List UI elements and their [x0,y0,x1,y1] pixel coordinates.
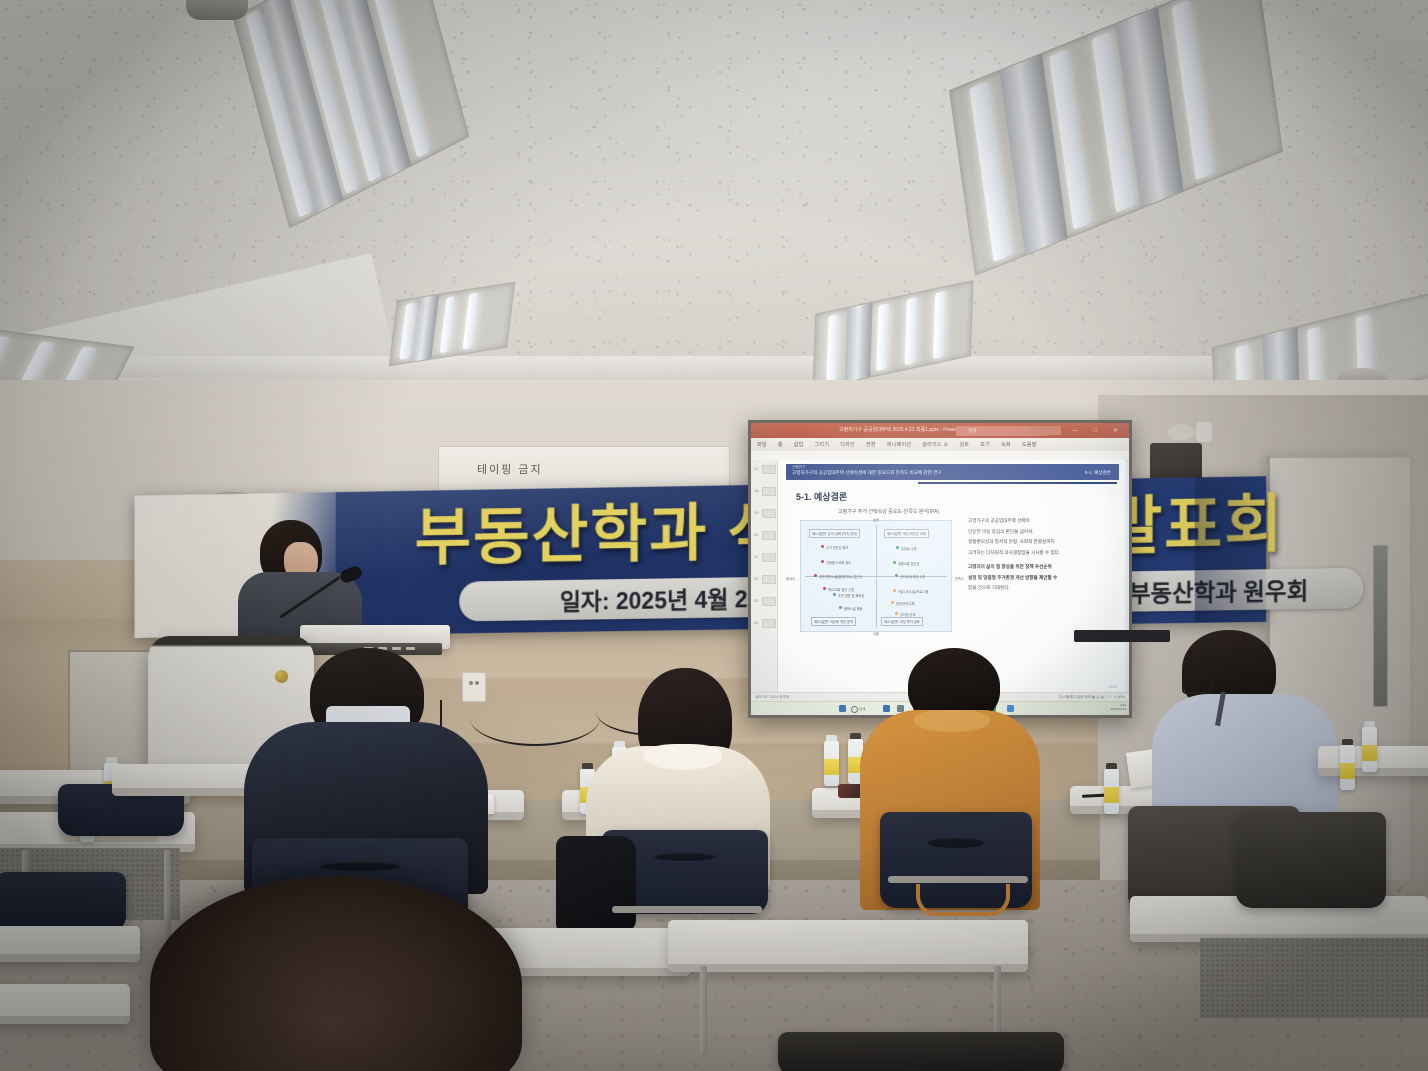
slide-conclusion-text: 고령가구의 공공임대주택 선택이 단순한 비용 중심의 판단을 넘어서, 생활편… [968,518,1117,596]
slide-thumb-number: 24 [754,620,758,625]
desk-left-front [0,926,140,962]
conclusion-line-3: 생활편의성과 정서적 안정, 사회적 연결성까지 [968,539,1117,544]
matrix-label-top: 높음 [873,517,879,522]
bottle-cap [1106,763,1117,769]
microphone-head-icon [338,564,363,584]
ribbon-tab[interactable]: 전환 [866,442,876,448]
attendee2-collar [644,744,722,770]
slide-header-tag: 5-1. 예상결론 [1085,470,1111,476]
slide-thumb-number: 20 [754,532,758,537]
quadrant-2-dot-2 [893,561,896,564]
ceiling [0,0,1428,430]
taskbar-search-icon[interactable] [851,706,858,713]
bottle-label [824,759,839,775]
slide-number: 22/24 [1109,685,1118,689]
chair-back [778,1032,1064,1071]
quadrant-1-item-4: 학교/의료 접근 근접 [828,587,854,592]
quadrant-2-item-1: 임대료 수준 [901,546,917,551]
ribbon-tab[interactable]: 홈 [778,442,783,448]
quadrant-2-item-2: 대중교통 접근성 [898,561,919,566]
powerpoint-document-title: 고령자가구 공공임대주택 2025.4.22 최종1.pptx - PowerP… [839,426,969,433]
chair-right-front[interactable] [1236,812,1386,908]
bottle-label [1362,745,1377,761]
microphone-boom [279,576,340,618]
quadrant-2-label: 제2사분면: 개선 최우선 과제 [884,529,929,538]
quadrant-1-dot-1 [821,545,824,548]
quadrant-2-dot-3 [895,574,898,577]
slide-thumbnail[interactable] [762,597,776,606]
slide-thumb-number: 19 [754,510,758,515]
bottle-cap [106,757,117,763]
chair-back [1236,812,1386,908]
quadrant-1-dot-4 [823,587,826,590]
powerpoint-titlebar: 고령자가구 공공임대주택 2025.4.22 최종1.pptx - PowerP… [751,423,1129,438]
matrix-label-left: 중요도 [786,576,795,581]
bag-on-chair [556,836,636,932]
ribbon-tab[interactable]: 파일 [757,442,767,448]
quadrant-1-dot-3 [814,574,817,577]
desk-modesty-panel-right [1200,938,1428,1018]
quadrant-3-dot-2 [839,606,842,609]
slide-thumb-number: 17 [754,466,758,471]
attendee4-glasses-icon [1182,678,1212,694]
clock-date: 2025-04-22 [1111,708,1126,712]
slide-thumbnail[interactable] [762,509,776,518]
sensor-icon [1196,422,1212,442]
desk-edge [0,954,140,962]
quadrant-2-item-3: 관리비/공과금 수준 [900,574,925,579]
ribbon-tab[interactable]: 검토 [959,442,969,448]
conclusion-line-4: 고려하는 다차원적 의사결정임을 시사할 수 있다. [968,550,1117,555]
bottle-cap [1342,739,1353,745]
slide-header-title: 고령자가구의 공공임대주택 선택속성에 대한 중요도와 만족도 비교에 관한 연… [792,470,942,476]
quadrant-4-label: 제4사분면: 과잉 투자 검토 [881,617,923,626]
quadrant-3-item-1: 주변 경관 및 쾌적성 [838,593,864,598]
chair-left-2[interactable] [0,872,126,932]
slide-header-bar: 선행연구 고령자가구의 공공임대주택 선택속성에 대한 중요도와 만족도 비교에… [786,464,1119,480]
quadrant-1-item-1: 주거 안전성 확보 [826,545,848,550]
desk-front-left [0,984,130,1024]
slide-thumbnail[interactable] [762,619,776,628]
quadrant-3-item-2: 문화시설 확충 [844,606,862,611]
slide-thumbnail-rail[interactable]: 1718192021222324 [751,460,778,693]
wall-notice-text: 테이핑 금지 [477,461,543,477]
slide-thumbnail[interactable] [762,487,776,496]
slide-thumbnail[interactable] [762,465,776,474]
slide-rule-line [918,482,1117,484]
slide-thumbnail[interactable] [762,531,776,540]
quadrant-3-dot-1 [833,593,836,596]
desk-edge [668,964,1028,972]
ipa-quadrant-matrix: 높음 낮음 중요도 만족도 제1사분면: 유지·강화 (지속 관리) 주거 안전… [800,520,952,632]
quadrant-4-dot-3 [895,612,898,615]
taskbar-start-icon[interactable] [839,705,846,712]
smoke-detector-icon [186,0,248,20]
conclusion-line-1: 고령가구의 공공임대주택 선택이 [968,518,1117,523]
recommendation-line-1: 고령자의 삶의 질 향상을 위한 정책 우선순위 [968,564,1117,569]
water-bottle-7 [1104,768,1119,814]
matrix-label-right: 만족도 [955,576,964,581]
cable-run-1 [470,690,600,746]
quadrant-4-dot-1 [893,589,896,592]
chair-frame-bar [888,876,1028,883]
chair-frame-bar [612,906,762,913]
status-right-text: 디스플레이 설정 메모 ▦ ▤ ▥ ⛶ － ＋ 80% [1059,695,1125,700]
ribbon-tab[interactable]: 애니메이션 [887,442,912,448]
chair-front-1[interactable] [778,1032,1064,1071]
door-window [1373,545,1388,707]
quadrant-4-dot-2 [891,601,894,604]
slide-thumb-number: 18 [754,488,758,493]
slide-subtitle: 고령가구 주거 선택속성 중요도-만족도 분석(IPA) [838,508,939,515]
bottle-cap [826,735,837,741]
conclusion-line-2: 단순한 비용 중심의 판단을 넘어서, [968,529,1117,534]
quadrant-4-item-2: 운영/관리주체 [896,601,914,606]
desk-front-center-right [668,920,1028,972]
quadrant-1-label: 제1사분면: 유지·강화 (지속 관리) [809,529,860,538]
security-camera-icon [1168,424,1194,440]
chair-back [0,872,126,932]
desk-edge [0,1016,130,1024]
slide-title: 5-1. 예상결론 [796,490,847,503]
ribbon-tabs[interactable]: 파일홈삽입그리기디자인전환애니메이션슬라이드 쇼검토보기녹화도움말 [757,441,1048,448]
chair-handle-slot [927,837,985,848]
quadrant-1-item-2: 건축물 노후화 정도 [826,560,851,565]
ribbon-tab[interactable]: 그리기 [815,442,830,448]
bottle-label [1104,787,1119,803]
ribbon-tab[interactable]: 삽입 [794,442,804,448]
desk-leg [700,966,707,1052]
ribbon-tab[interactable]: 보기 [980,442,990,448]
chair-handle-slot [319,861,401,871]
slide-thumb-number: 23 [754,598,758,603]
quadrant-3-label: 제3사분면: 저순위 개선 영역 [811,617,856,626]
quadrant-4-item-1: 커뮤니티시설/프로그램 [898,589,928,594]
quadrant-1-item-3: 주변 편의시설(병원/마트) 접근성 [819,574,862,579]
bottle-cap [1364,721,1375,727]
ribbon-tab[interactable]: 슬라이드 쇼 [922,442,948,448]
ribbon-tab[interactable]: 녹화 [1001,442,1011,448]
water-bottle-8 [1362,726,1377,772]
recommendation-line-2: 설정 및 맞춤형 주거환경 개선 방향을 제안할 수 [968,575,1117,580]
slide-thumb-number: 21 [754,554,758,559]
powerpoint-search-placeholder: 검색 [968,428,976,434]
microphone [280,560,364,630]
taskbar-clock[interactable]: 4:44 2025-04-22 [1111,704,1126,712]
lecture-room-photo: 테이핑 금지 평 택 대 학 교 1912 PYEONGTAEK UNIVERS… [0,0,1428,1071]
slide-thumbnail[interactable] [762,575,776,584]
quadrant-4-item-3: 주차장 규모 [900,612,916,617]
recommendation-line-3: 있을 것으로 기대된다. [968,585,1117,590]
quadrant-2-dot-1 [896,546,899,549]
bottle-label [1340,763,1355,779]
ribbon-tab[interactable]: 도움말 [1022,442,1037,448]
desk-leg [164,850,171,946]
ribbon-tab[interactable]: 디자인 [840,442,855,448]
matrix-label-bottom: 낮음 [873,631,879,636]
powerpoint-ribbon[interactable]: 파일홈삽입그리기디자인전환애니메이션슬라이드 쇼검토보기녹화도움말 [751,438,1129,452]
slide-thumbnail[interactable] [762,553,776,562]
water-bottle-9 [1340,744,1355,790]
quadrant-1-dot-2 [821,560,824,563]
slide-thumb-number: 22 [754,576,758,581]
water-bottle-5 [824,740,839,786]
chair-handle-slot [653,852,716,861]
attendee3-collar [914,710,990,732]
powerpoint-account-button[interactable] [1027,426,1061,435]
chair-armrest-orange [916,884,1010,916]
window-controls[interactable]: — □ ✕ [1072,427,1125,434]
